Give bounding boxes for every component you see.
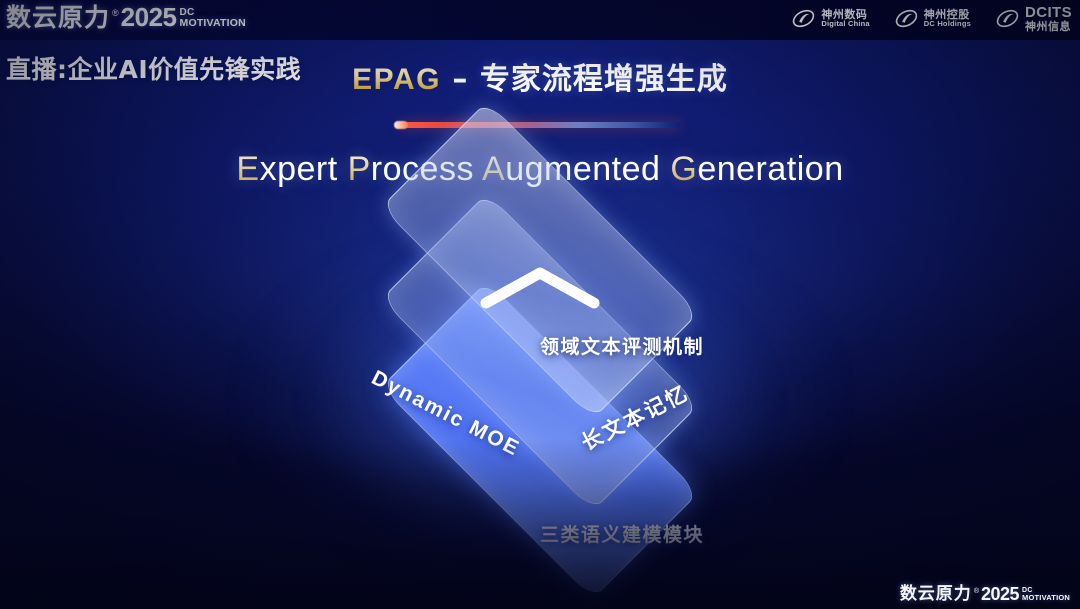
title-acronym: EPAG	[352, 63, 441, 96]
watermark-name-cn: 数云原力	[900, 586, 972, 603]
watermark-registered-mark: ®	[974, 588, 979, 595]
swirl-icon	[791, 6, 816, 31]
chevron-up-icon	[478, 265, 602, 311]
accent-divider-bar	[400, 122, 680, 128]
subtitle-cap-g: G	[670, 150, 697, 188]
subtitle-word-expert: xpert	[260, 150, 348, 188]
swirl-icon	[894, 6, 919, 31]
brand-logo: 数云原力 ® 2025 DC MOTIVATION	[6, 4, 246, 30]
partner-logo-dcits: DCITS 神州信息	[995, 5, 1072, 32]
subtitle-word-generation: eneration	[697, 150, 843, 188]
partner-logo-dc-holdings: 神州控股 DC Holdings	[894, 6, 971, 31]
brand-sub-line2: MOTIVATION	[180, 18, 246, 29]
title-chinese: 专家流程增强生成	[480, 62, 728, 97]
partner-name-cn: 神州信息	[1025, 21, 1072, 33]
brand-registered-mark: ®	[112, 9, 119, 18]
watermark-year: 2025	[981, 585, 1019, 603]
partner-text: 神州数码 Digital China	[821, 9, 869, 28]
brand-year: 2025	[121, 4, 177, 30]
title-separator: –	[441, 62, 480, 97]
page-title: EPAG – 专家流程增强生成	[0, 54, 1080, 98]
brand-subtext: DC MOTIVATION	[180, 8, 246, 29]
subtitle-cap-p: P	[348, 150, 371, 188]
watermark-sub-line2: MOTIVATION	[1022, 594, 1070, 602]
brand-name-cn: 数云原力	[6, 5, 110, 30]
subtitle-cap-e: E	[236, 150, 259, 188]
footer-watermark-logo: 数云原力 ® 2025 DC MOTIVATION	[900, 585, 1070, 603]
partner-logo-digital-china: 神州数码 Digital China	[791, 6, 869, 31]
partner-text: DCITS 神州信息	[1025, 5, 1072, 32]
partner-name-en: DCITS	[1025, 5, 1072, 21]
partner-logos: 神州数码 Digital China 神州控股 DC Holdings	[791, 5, 1072, 32]
slide-stage: 数云原力 ® 2025 DC MOTIVATION 直播:企业AI价值先锋实践 …	[0, 0, 1080, 609]
watermark-subtext: DC MOTIVATION	[1022, 587, 1070, 602]
swirl-icon	[995, 6, 1020, 31]
partner-text: 神州控股 DC Holdings	[924, 9, 971, 28]
partner-name-en: DC Holdings	[924, 20, 971, 28]
partner-name-en: Digital China	[821, 20, 869, 28]
